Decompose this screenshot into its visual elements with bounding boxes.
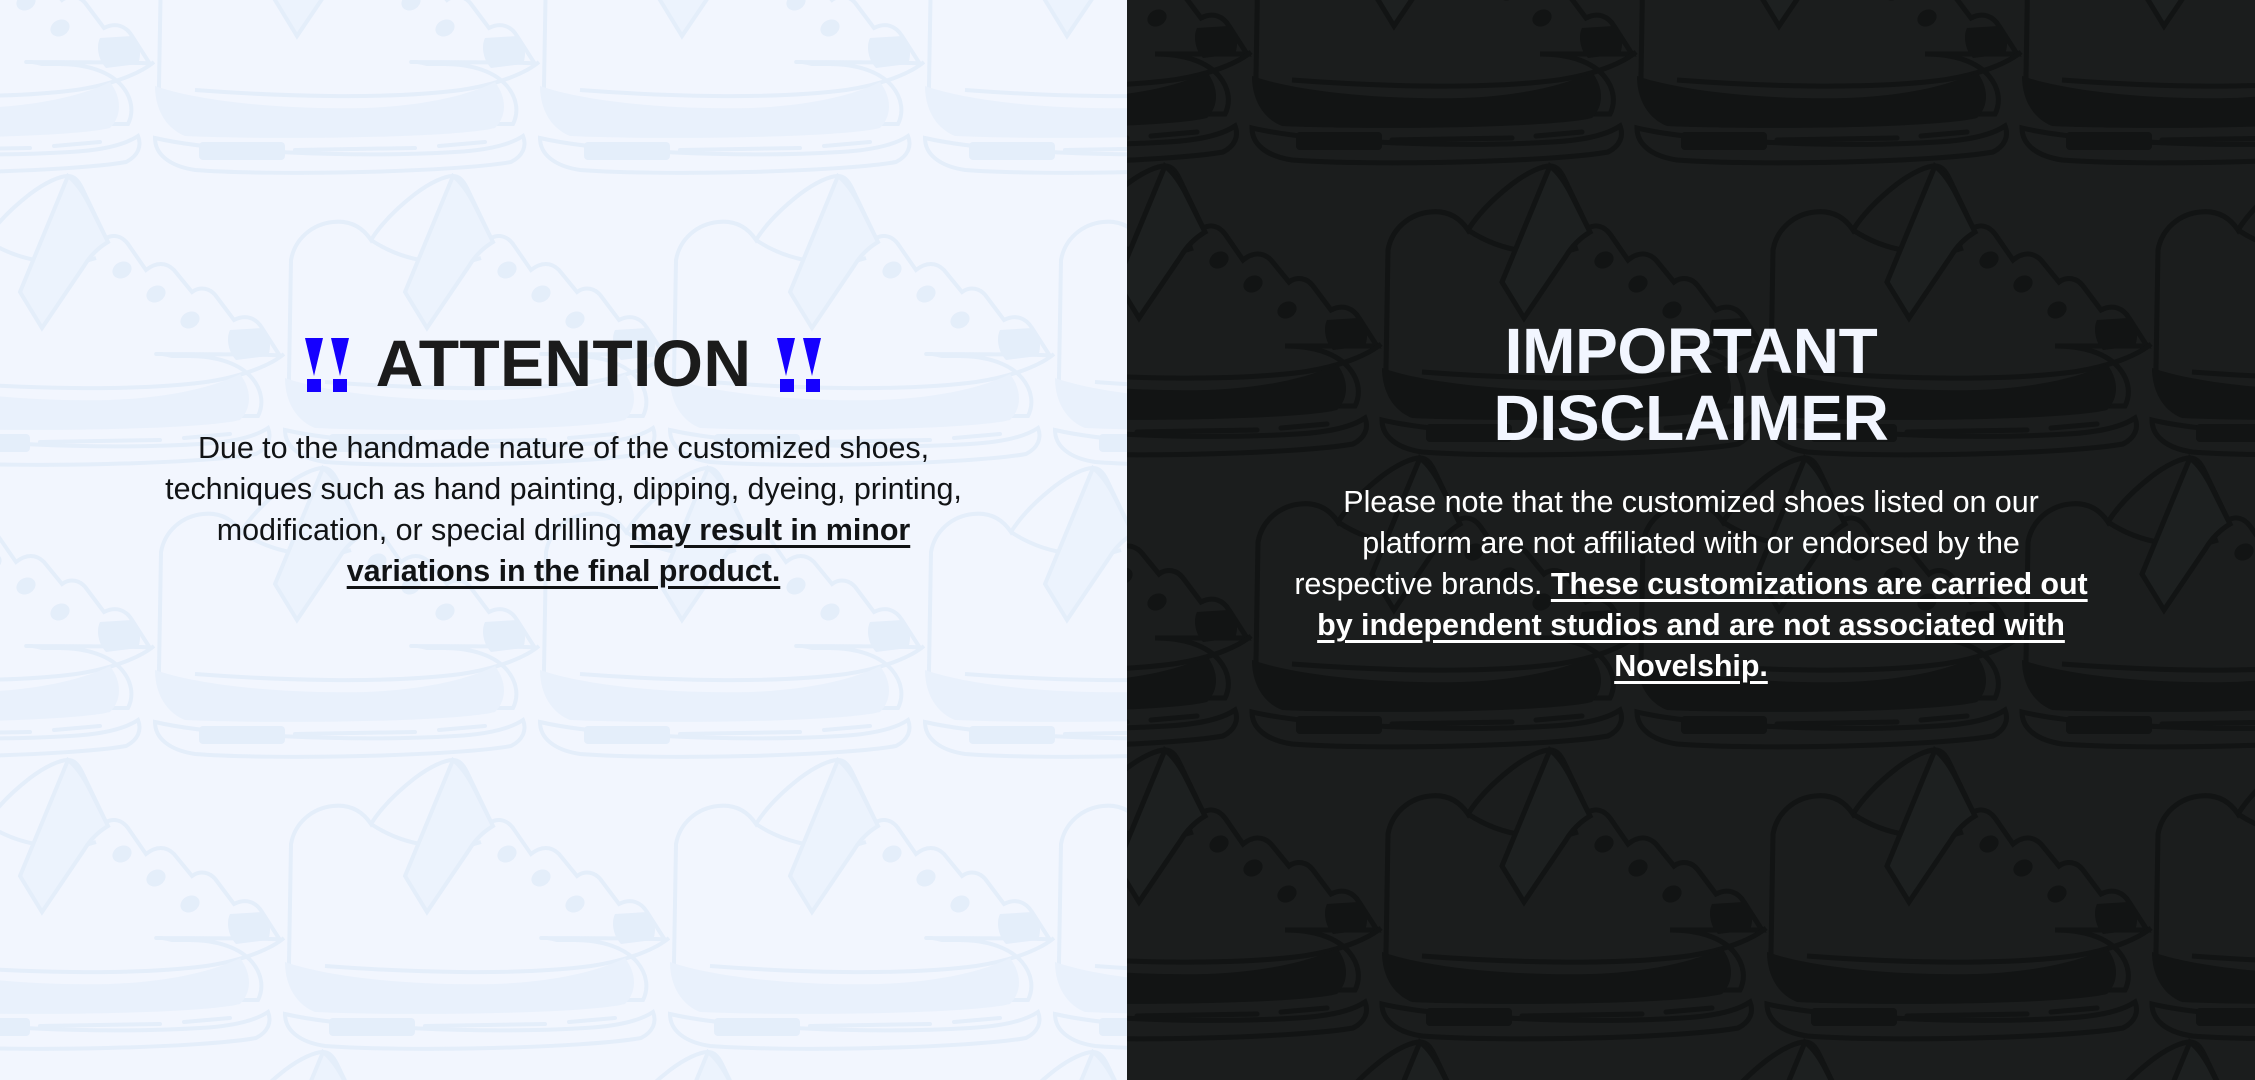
important-disclaimer-panel: IMPORTANT DISCLAIMER Please note that th… xyxy=(1127,0,2255,1080)
disclaimer-heading: IMPORTANT DISCLAIMER xyxy=(1127,318,2255,452)
double-exclamation-mark-icon xyxy=(777,338,822,392)
disclaimer-heading-line-2: DISCLAIMER xyxy=(1327,385,2055,452)
attention-body: Due to the handmade nature of the custom… xyxy=(0,428,1127,592)
double-exclamation-mark-icon xyxy=(305,338,350,392)
disclaimer-heading-line-1: IMPORTANT xyxy=(1327,318,2055,385)
attention-panel: ATTENTION Due to the handmade nature of … xyxy=(0,0,1127,1080)
customization-notice-banner: ATTENTION Due to the handmade nature of … xyxy=(0,0,2255,1080)
disclaimer-body: Please note that the customized shoes li… xyxy=(1127,482,2255,687)
attention-heading: ATTENTION xyxy=(0,330,1127,396)
attention-heading-text: ATTENTION xyxy=(376,330,752,396)
disclaimer-content: IMPORTANT DISCLAIMER Please note that th… xyxy=(1127,318,2255,687)
attention-content: ATTENTION Due to the handmade nature of … xyxy=(0,330,1127,592)
